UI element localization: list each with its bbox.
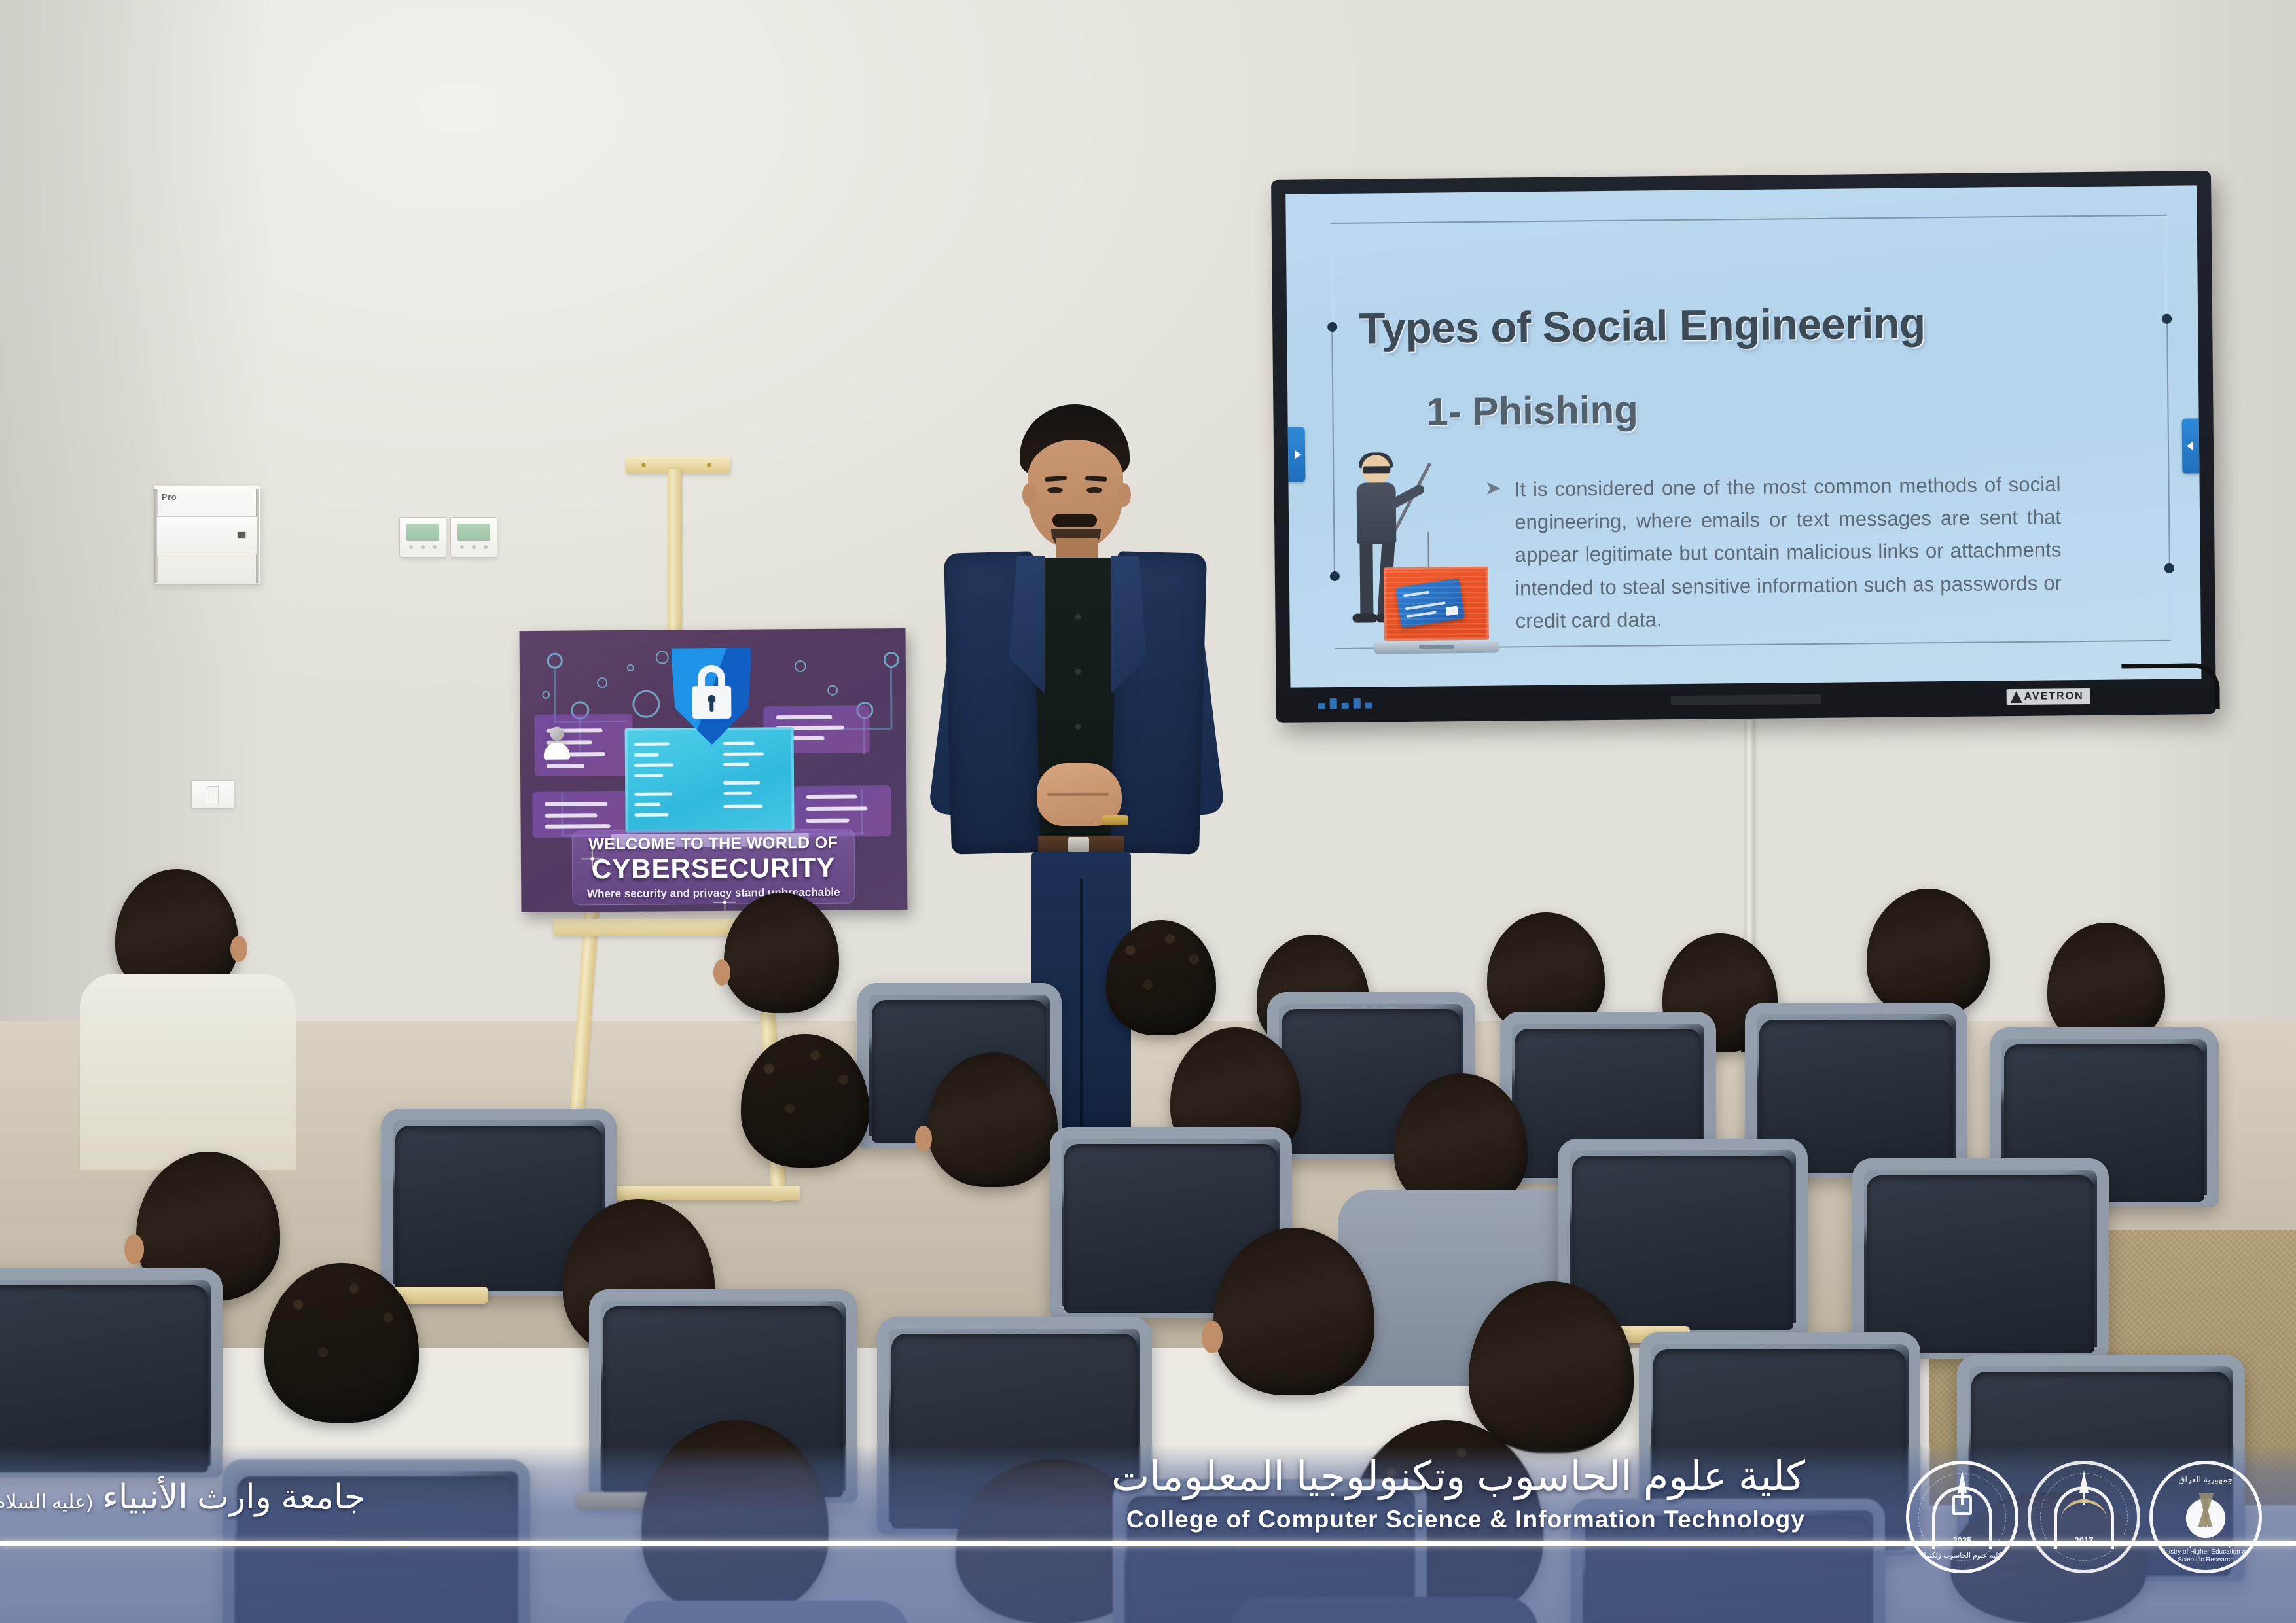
thermostat-panel-1[interactable] (399, 517, 446, 558)
ministry-caption-english: Republic of Iraq Ministry of Higher Educ… (2157, 1541, 2255, 1564)
thermostat-lcd-2 (457, 524, 490, 541)
emblem-year-1: 2025 (1953, 1535, 1972, 1545)
poster-laptop-screen (625, 727, 795, 833)
frame-dot-top-right (2162, 314, 2172, 324)
audience-head (1867, 889, 1990, 1017)
slide-body-text: It is considered one of the most common … (1515, 468, 2062, 637)
thermostat-panel-2[interactable] (450, 517, 497, 558)
hacker-phishing-illustration (1331, 454, 1490, 671)
display-ir-sensor (1671, 694, 1821, 705)
poster-user-avatar-icon (540, 725, 574, 762)
display-brand-text: AVETRON (2024, 690, 2084, 703)
lecture-photo: Pro (0, 0, 2296, 1623)
light-switch[interactable] (191, 780, 234, 809)
credit-card-icon (1395, 579, 1465, 628)
minaret-chip-emblem-icon: 2025 كلية علوم الحاسوب وتكنولوجيا المعلو… (1923, 1473, 2001, 1561)
iraq-ministry-palm-icon (2174, 1486, 2237, 1548)
smartboard-right-toolbar-tab[interactable] (2182, 418, 2200, 473)
college-name-block: كلية علوم الحاسوب وتكنولوجيا المعلومات C… (1039, 1454, 1805, 1533)
electrical-panel[interactable]: Pro (153, 486, 260, 585)
audience-head (724, 893, 839, 1013)
ministry-department: Ministry of Higher Education and Scienti… (2159, 1548, 2253, 1563)
college-name-arabic: كلية علوم الحاسوب وتكنولوجيا المعلومات (1039, 1454, 1805, 1499)
avetron-triangle-icon (2011, 691, 2022, 703)
slide-subtitle: 1- Phishing (1426, 387, 1638, 435)
audience-head (1106, 920, 1216, 1035)
logo-row: 2025 كلية علوم الحاسوب وتكنولوجيا المعلو… (1906, 1461, 2262, 1573)
ministry-emblem: جمهورية العراق Republic of Iraq Ministry… (2149, 1461, 2262, 1573)
thermostat-buttons-1[interactable] (405, 541, 440, 554)
frame-dot-bottom-right (2164, 563, 2174, 573)
phished-laptop-screen (1384, 567, 1489, 641)
brand-banner: جامعة وارث الأنبياء (عليه السلام) كلية ع… (0, 1445, 2296, 1623)
ministry-country: Republic of Iraq (2181, 1541, 2231, 1548)
university-name-text: جامعة وارث الأنبياء (102, 1478, 365, 1516)
presenter-mustache (1052, 514, 1097, 527)
audience-head (741, 1034, 869, 1168)
university-emblem: 2017 (2028, 1461, 2140, 1573)
smartboard-display[interactable]: Types of Social Engineering 1- Phishing … (1271, 171, 2216, 723)
panel-brand-label: Pro (162, 492, 177, 502)
slide-title: Types of Social Engineering (1359, 298, 1926, 353)
frame-dot-top-left (1327, 322, 1337, 332)
presenter-wristwatch (1102, 815, 1128, 825)
emblem-caption-1: كلية علوم الحاسوب وتكنولوجيا المعلومات (1923, 1551, 2001, 1560)
university-honorific: (عليه السلام) (0, 1491, 93, 1513)
audience-shoulders (80, 974, 296, 1170)
chevron-left-icon (2186, 441, 2193, 450)
university-name-arabic: جامعة وارث الأنبياء (عليه السلام) (0, 1478, 365, 1517)
display-brand-logo: AVETRON (2007, 688, 2090, 705)
smartboard-left-toolbar-tab[interactable] (1288, 427, 1306, 482)
display-ports[interactable] (1318, 698, 1372, 709)
ministry-title-arabic: جمهورية العراق (2153, 1474, 2259, 1485)
emblem-year-2: 2017 (2075, 1535, 2094, 1545)
minaret-book-emblem-icon: 2017 (2045, 1473, 2123, 1561)
hacker-torso (1356, 482, 1396, 544)
university-college-emblem: 2025 كلية علوم الحاسوب وتكنولوجيا المعلو… (1906, 1461, 2018, 1573)
college-name-english: College of Computer Science & Informatio… (1039, 1506, 1805, 1533)
thermostat-buttons-2[interactable] (456, 541, 492, 554)
thermostat-lcd-1 (406, 524, 439, 541)
slide-canvas[interactable]: Types of Social Engineering 1- Phishing … (1285, 185, 2201, 687)
panel-latch[interactable] (237, 531, 247, 539)
display-power-cord (2121, 663, 2220, 709)
hacker-mask (1363, 466, 1390, 473)
auditorium-seat[interactable] (1852, 1158, 2109, 1359)
phished-laptop (1384, 567, 1489, 654)
slide-bullet: ➤ It is considered one of the most commo… (1484, 468, 2062, 638)
chevron-right-icon (1295, 450, 1301, 459)
